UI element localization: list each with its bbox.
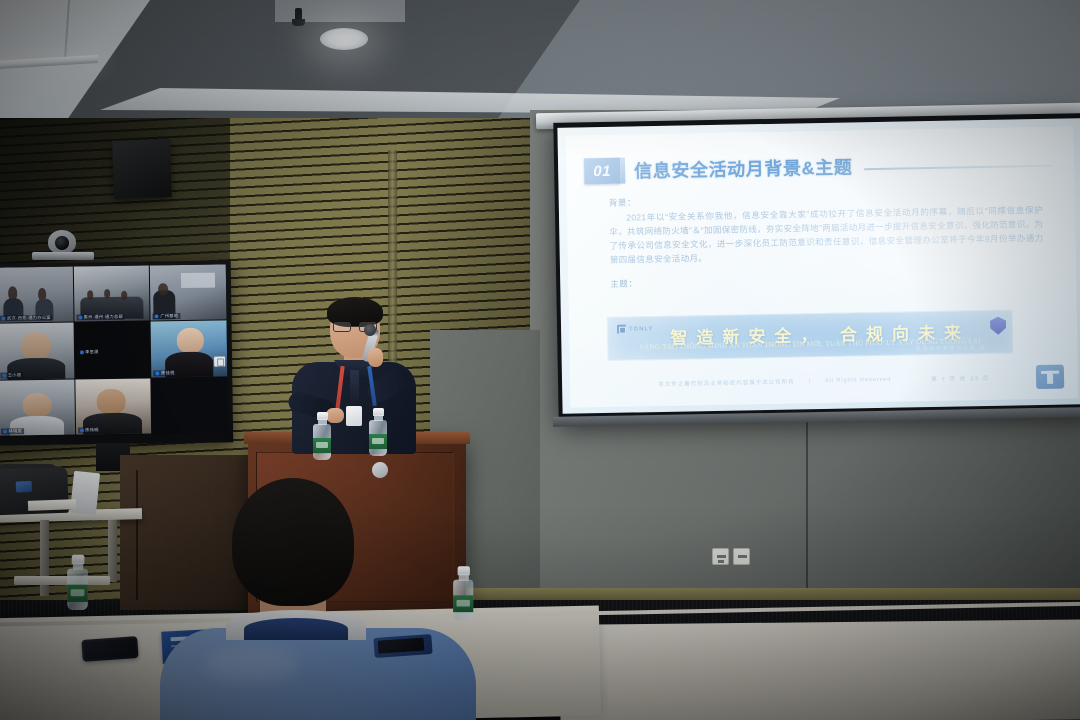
video-tile[interactable]: 惠州-通州-通力总部 [73, 265, 149, 321]
screen-surface: 01 信息安全活动月背景&主题 背景： 2021年以“安全关系你我他，信息安全靠… [557, 118, 1080, 414]
video-conference-camera [48, 230, 76, 254]
tonly-logo-icon [617, 325, 626, 334]
audience-head [232, 478, 354, 606]
footer-page-number: 第 7 页 共 33 页 [931, 374, 990, 383]
section-number-badge: 01 [584, 158, 620, 185]
footer-separator: | [809, 378, 811, 384]
footer-rights: All Rights Reserved [825, 377, 891, 384]
video-tile[interactable]: 陈佳悦 [151, 321, 227, 377]
audience-inner-collar [244, 618, 348, 640]
presentation-slide: 01 信息安全活动月背景&主题 背景： 2021年以“安全关系你我他，信息安全靠… [566, 126, 1079, 407]
wall-outlet-right[interactable] [733, 548, 750, 565]
theme-banner: TONLY 智造新安全， 合规向未来 SÁNG TẠO THÔNG MINH A… [607, 310, 1014, 361]
water-bottle[interactable] [66, 555, 89, 610]
video-conference-grid: 武汉-西充-通力办公室 惠州-通州-通力总部 广州基地 王小丽 [0, 264, 228, 436]
video-tile[interactable]: 武汉-西充-通力办公室 [0, 267, 73, 323]
video-tile-name: 陈佳悦 [154, 370, 177, 376]
presenter [286, 300, 422, 450]
video-tile-name: 李思源 [78, 349, 101, 355]
camera-mount-bar [32, 252, 94, 260]
presenter-shirt-placket [350, 370, 359, 404]
water-bottle[interactable] [368, 408, 388, 456]
presenter-right-hand [368, 348, 383, 367]
video-tile-name: 广州基地 [153, 313, 181, 319]
video-tile[interactable]: 广州基地 [150, 264, 226, 320]
video-tile-name: 王小丽 [0, 372, 23, 378]
phone-on-shoulder[interactable] [373, 634, 432, 658]
audience-member [168, 478, 468, 720]
podium-emblem-icon [372, 462, 388, 478]
video-tile-name: 武汉-西充-通力办公室 [0, 315, 53, 322]
slide-title: 信息安全活动月背景&主题 [634, 153, 853, 183]
video-tile[interactable]: 王小丽 [0, 323, 74, 379]
front-table-right [559, 619, 1080, 720]
section-badge-tail [620, 158, 625, 184]
tonly-logo: TONLY [617, 324, 654, 334]
slide-body: 背景： 2021年以“安全关系你我他，信息安全靠大家”成功拉开了信息安全活动月的… [609, 189, 1045, 290]
video-tile[interactable]: 林晓雯 [0, 379, 75, 435]
participant-avatar: 刘艳 [135, 433, 169, 435]
wall-mounted-speaker [112, 139, 171, 198]
background-paragraph: 2021年以“安全关系你我他，信息安全靠大家”成功拉开了信息安全活动月的序幕，随… [609, 204, 1044, 268]
title-underline-rule [864, 164, 1052, 169]
company-logo-icon [1036, 365, 1064, 390]
video-tile-name: 林晓雯 [1, 428, 24, 434]
water-bottle[interactable] [312, 412, 332, 460]
conference-room-scene: 01 信息安全活动月背景&主题 背景： 2021年以“安全关系你我他，信息安全靠… [0, 0, 1080, 720]
slide-title-row: 01 信息安全活动月背景&主题 [584, 149, 1052, 186]
slide-footer: 本文件之著作权及业务秘密内容属于本公司所有 | All Rights Reser… [570, 370, 1078, 391]
video-tile-name: 陈伟明 [78, 427, 101, 433]
microphone-head [364, 324, 376, 336]
projection-screen: 01 信息安全活动月背景&主题 背景： 2021年以“安全关系你我他，信息安全靠… [553, 113, 1080, 423]
video-tile[interactable]: 李思源 [74, 322, 150, 378]
fire-sprinkler-head [292, 8, 305, 28]
shield-icon [990, 317, 1006, 335]
video-tile-name: 惠州-通州-通力总部 [76, 314, 125, 321]
tile-snapshot-badge [214, 356, 225, 366]
power-strip[interactable] [14, 576, 110, 585]
shirt-highlight [204, 646, 300, 682]
theme-label: 主题： [610, 270, 1044, 290]
desk-papers [28, 499, 76, 511]
theme-organizer: 信息安全管理办公室 宣 [916, 344, 987, 352]
video-wall-tv[interactable]: 武汉-西充-通力办公室 惠州-通州-通力总部 广州基地 王小丽 [0, 260, 233, 445]
smartphone[interactable] [81, 636, 138, 662]
id-badge [346, 406, 362, 426]
footer-copyright: 本文件之著作权及业务秘密内容属于本公司所有 [658, 378, 794, 388]
tonly-wordmark: TONLY [629, 326, 654, 332]
desk-leg [108, 520, 117, 582]
video-tile[interactable]: 陈伟明 [75, 378, 151, 434]
ceiling-downlight [320, 28, 368, 50]
wall-outlet-left[interactable] [712, 548, 729, 565]
cabinet-door-seam [136, 470, 138, 600]
